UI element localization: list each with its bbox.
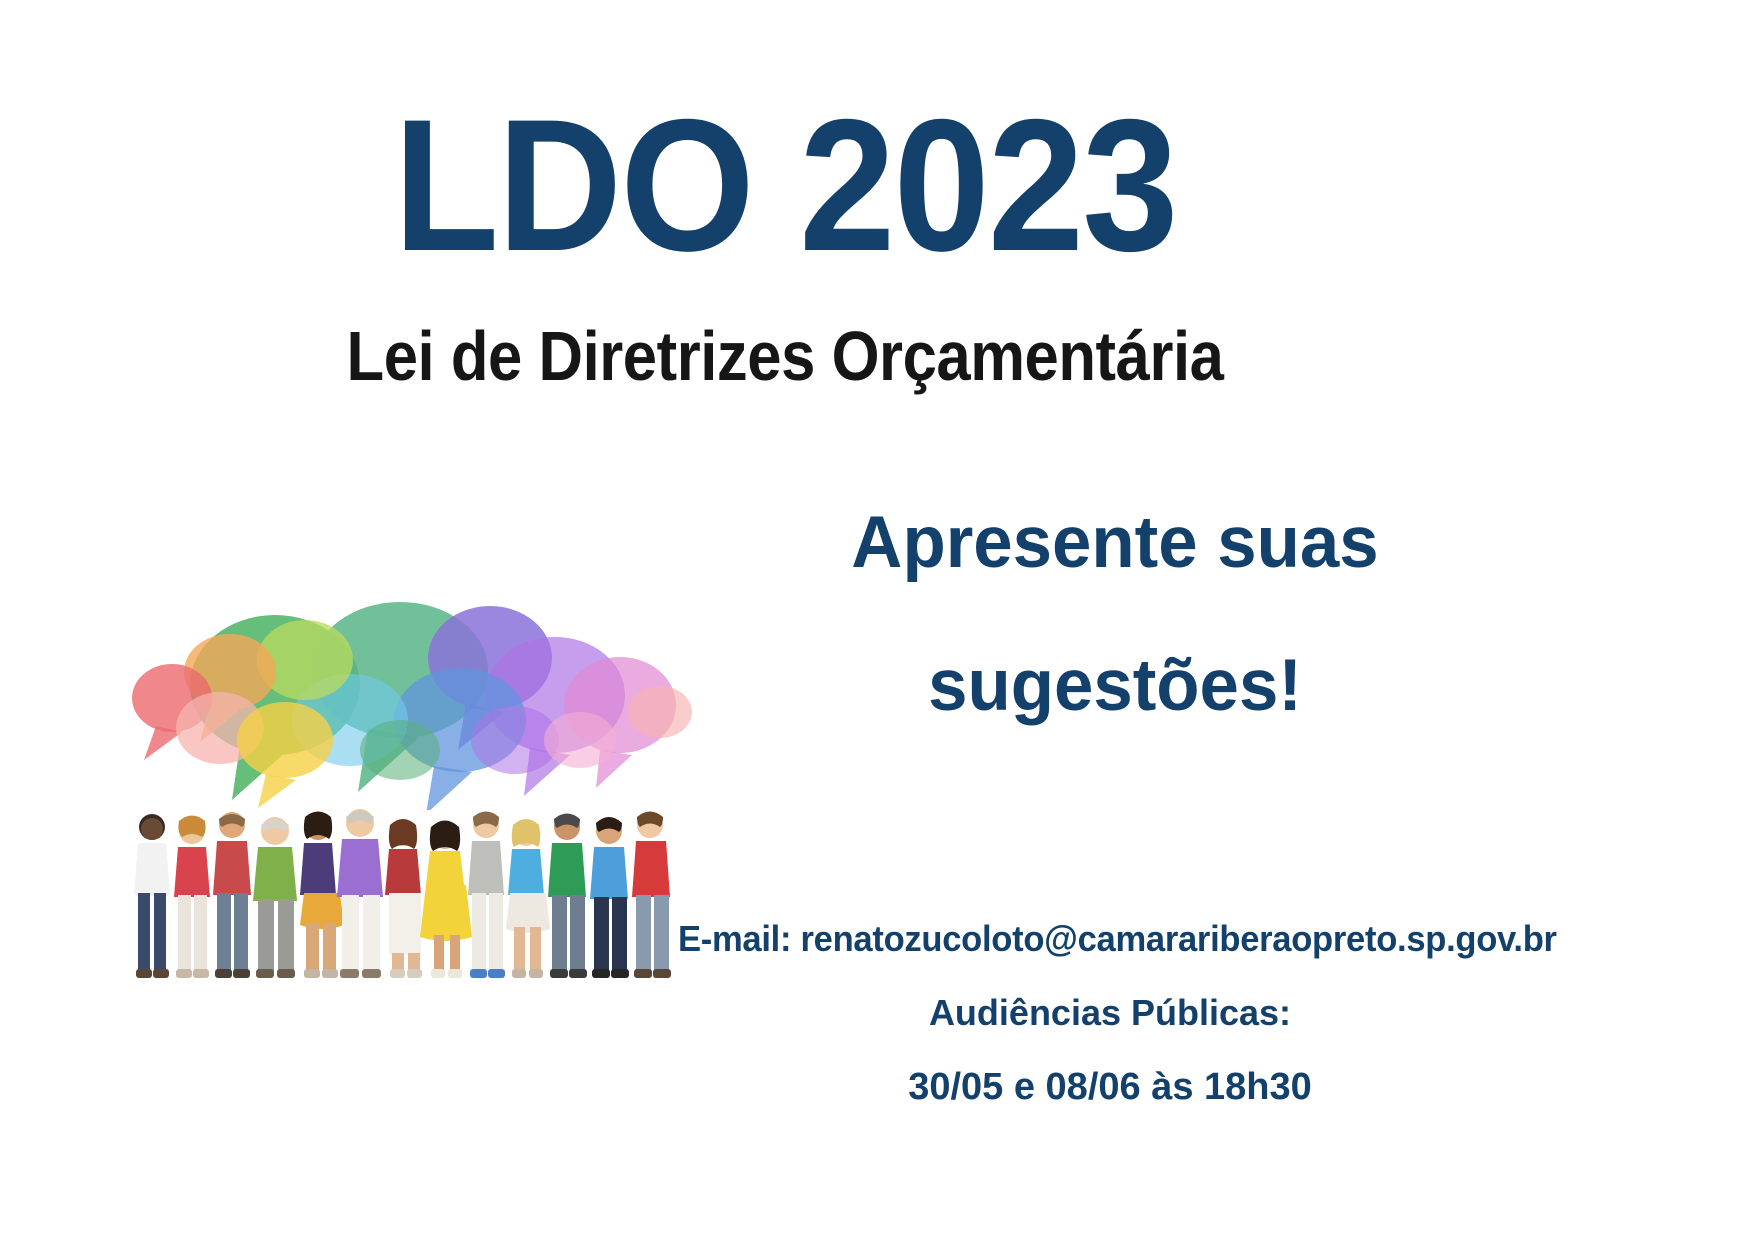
public-hearings-dates: 30/05 e 08/06 às 18h30 [660, 1066, 1560, 1109]
contact-block: E-mail: renatozucoloto@camarariberaopret… [660, 918, 1560, 1109]
title-block: LDO 2023 Lei de Diretrizes Orçamentária [0, 96, 1570, 391]
page-title: LDO 2023 [63, 96, 1507, 275]
illustration-group [100, 600, 700, 1030]
cta-line-1: Apresente suas [746, 506, 1483, 579]
poster-canvas: LDO 2023 Lei de Diretrizes Orçamentária … [0, 0, 1754, 1240]
public-hearings-label: Audiências Públicas: [660, 992, 1560, 1034]
email-line[interactable]: E-mail: renatozucoloto@camarariberaopret… [678, 918, 1542, 960]
diverse-group-of-people-icon [120, 805, 680, 1020]
call-to-action-block: Apresente suas sugestões! [735, 506, 1495, 722]
page-subtitle: Lei de Diretrizes Orçamentária [94, 321, 1476, 391]
cta-line-2: sugestões! [746, 649, 1483, 722]
speech-bubbles-cluster-icon [100, 600, 700, 810]
